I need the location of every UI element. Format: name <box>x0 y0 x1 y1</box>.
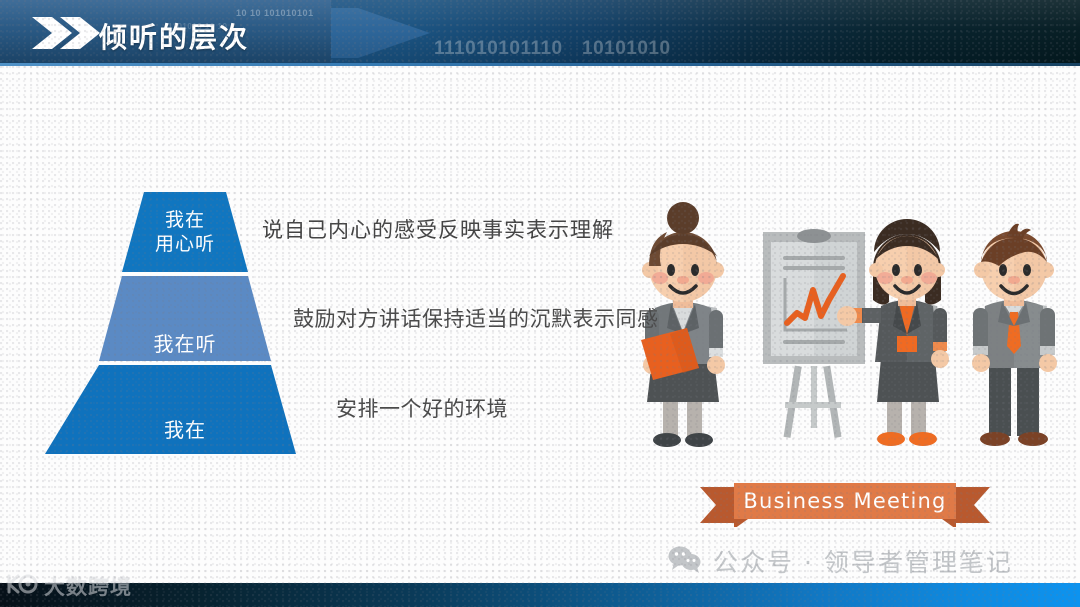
header-underline <box>0 63 1080 66</box>
wechat-account-row: 公众号 · 领导者管理笔记 <box>668 543 1013 579</box>
point-text-bottom: 安排一个好的环境 <box>336 393 508 423</box>
business-meeting-ribbon: Business Meeting <box>700 483 990 527</box>
double-chevron-right-icon <box>30 17 102 49</box>
business-meeting-illustration <box>615 190 1075 470</box>
watermark: 大数跨境 <box>6 571 132 601</box>
point-text-top: 说自己内心的感受反映事实表示理解 <box>262 214 614 244</box>
dashu-logo-icon <box>6 573 38 600</box>
point-text-middle: 鼓励对方讲话保持适当的沉默表示同感 <box>293 303 659 333</box>
slide-root: 1101010 10 10 10 10 101010101 1110101011… <box>0 0 1080 607</box>
bottom-accent-bar <box>0 583 1080 607</box>
flipchart-easel <box>763 229 865 438</box>
wechat-icon <box>668 545 702 578</box>
ribbon-label: Business Meeting <box>700 483 990 519</box>
pyramid-tier-bottom-label: 我在 <box>40 418 330 443</box>
watermark-text: 大数跨境 <box>44 571 132 601</box>
slide-header: 1101010 10 10 10 10 101010101 1110101011… <box>0 0 1080 66</box>
pyramid-tier-middle-label: 我在听 <box>40 332 330 357</box>
wechat-account-name: 公众号 · 领导者管理笔记 <box>713 543 1013 579</box>
figure-man-standing <box>972 224 1057 446</box>
pyramid-tier-bottom[interactable]: 我在 <box>40 365 330 454</box>
page-title: 倾听的层次 <box>99 16 249 56</box>
pyramid-tier-middle[interactable]: 我在听 <box>40 276 330 361</box>
